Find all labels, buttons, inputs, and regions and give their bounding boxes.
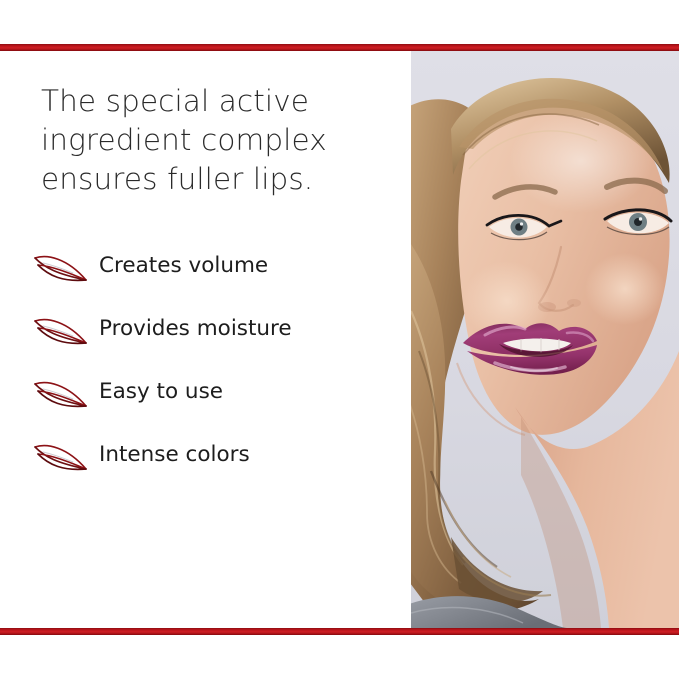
feature-label: Intense colors xyxy=(99,438,250,472)
top-red-rule xyxy=(0,44,679,51)
list-item: Creates volume xyxy=(33,249,393,312)
list-item: Intense colors xyxy=(33,438,393,501)
feature-label: Easy to use xyxy=(99,375,223,409)
eye-right xyxy=(605,210,671,235)
feature-list: Creates volume Provides moisture xyxy=(33,249,393,501)
leaf-lip-icon xyxy=(33,441,89,475)
text-column: The special active ingredient complex en… xyxy=(0,51,411,628)
leaf-lip-icon xyxy=(33,315,89,349)
page-title: The special active ingredient complex en… xyxy=(41,82,371,199)
list-item: Provides moisture xyxy=(33,312,393,375)
product-feature-banner: The special active ingredient complex en… xyxy=(0,0,679,679)
list-item: Easy to use xyxy=(33,375,393,438)
feature-label: Creates volume xyxy=(99,249,268,283)
leaf-lip-icon xyxy=(33,252,89,286)
model-photo xyxy=(411,51,679,628)
leaf-lip-icon xyxy=(33,378,89,412)
bottom-red-rule xyxy=(0,628,679,635)
model-photo-illustration xyxy=(411,51,679,628)
feature-label: Provides moisture xyxy=(99,312,292,346)
